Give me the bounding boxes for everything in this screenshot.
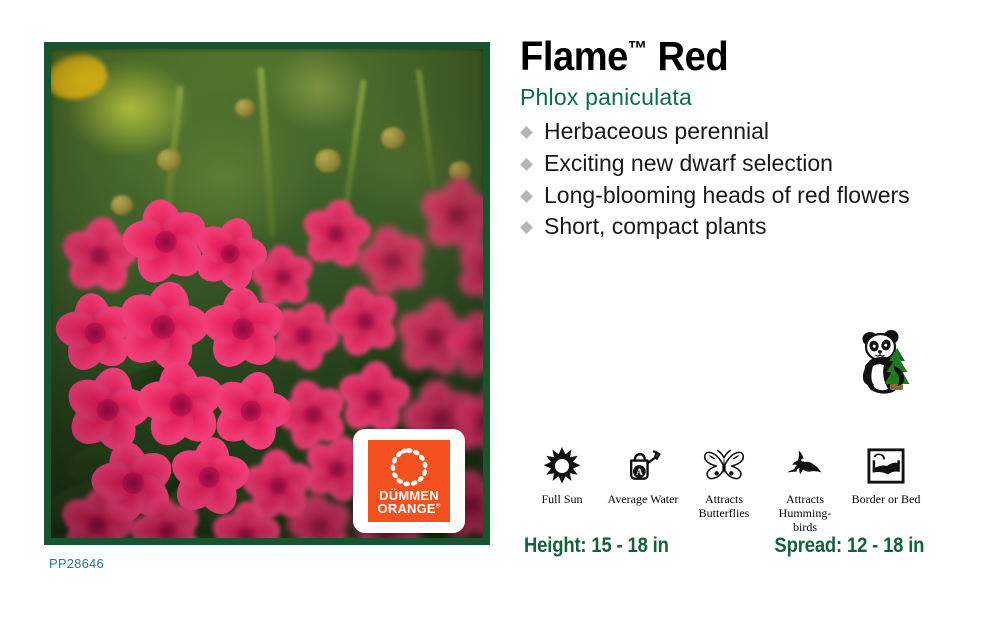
diamond-bullet-icon (520, 126, 533, 139)
culture-icon-label: Average Water (608, 493, 679, 507)
dimensions-row: Height: 15 - 18 in Spread: 12 - 18 in (524, 534, 924, 558)
culture-icon-border-or-bed: Border or Bed (848, 444, 924, 507)
registered-mark: ® (436, 504, 441, 510)
garden-bed-icon (867, 444, 905, 488)
brand-logo-square: DÜMMEN ORANGE® (368, 440, 450, 522)
full-sun-icon (543, 444, 581, 488)
spread-text: Spread: 12 - 18 in (774, 534, 924, 558)
wreath-o-logo-icon (389, 447, 429, 487)
patent-code: PP28646 (49, 556, 104, 571)
feature-text: Long-blooming heads of red flowers (544, 182, 910, 208)
title-suffix: Red (658, 33, 729, 79)
butterfly-icon (702, 444, 746, 488)
brand-wordmark: DÜMMEN ORANGE® (378, 489, 441, 515)
panda-with-tree-icon (853, 326, 917, 396)
list-item: Short, compact plants (520, 212, 975, 242)
culture-icon-label: Attracts Humming-birds (767, 493, 843, 535)
list-item: Exciting new dwarf selection (520, 149, 975, 179)
feature-text: Herbaceous perennial (544, 118, 769, 144)
culture-icon-label: Border or Bed (852, 493, 921, 507)
trademark-mark: ™ (628, 37, 648, 60)
culture-icon-label: Attracts Butterflies (686, 493, 762, 521)
culture-icon-average-water: A Average Water (605, 444, 681, 507)
culture-icon-hummingbirds: Attracts Humming-birds (767, 444, 843, 535)
diamond-bullet-icon (520, 222, 533, 235)
diamond-bullet-icon (520, 158, 533, 171)
svg-text:A: A (636, 467, 643, 477)
culture-icon-full-sun: Full Sun (524, 444, 600, 507)
culture-icon-label: Full Sun (541, 493, 582, 507)
culture-icon-butterflies: Attracts Butterflies (686, 444, 762, 521)
list-item: Herbaceous perennial (520, 117, 975, 147)
brand-wordmark-line2: ORANGE® (378, 502, 441, 515)
culture-icon-row: Full Sun A Average Water (524, 444, 924, 535)
feature-text: Short, compact plants (544, 213, 766, 239)
page-title: Flame™ Red (520, 36, 943, 78)
botanical-name: Phlox paniculata (520, 84, 975, 111)
height-text: Height: 15 - 18 in (524, 534, 669, 558)
feature-text: Exciting new dwarf selection (544, 150, 833, 176)
brand-logo-badge: DÜMMEN ORANGE® (353, 429, 465, 533)
diamond-bullet-icon (520, 190, 533, 203)
feature-list-clip: Herbaceous perennial Exciting new dwarf … (520, 111, 975, 259)
plant-tag: DÜMMEN ORANGE® PP28646 Flame™ Red Phlox … (0, 0, 1000, 617)
list-item: Long-blooming heads of red flowers (520, 181, 975, 211)
feature-list: Herbaceous perennial Exciting new dwarf … (520, 117, 975, 243)
title-main: Flame (520, 33, 628, 79)
average-water-icon: A (623, 444, 663, 488)
hummingbird-icon (785, 444, 825, 488)
info-panel: Flame™ Red Phlox paniculata Herbaceous p… (520, 36, 975, 258)
